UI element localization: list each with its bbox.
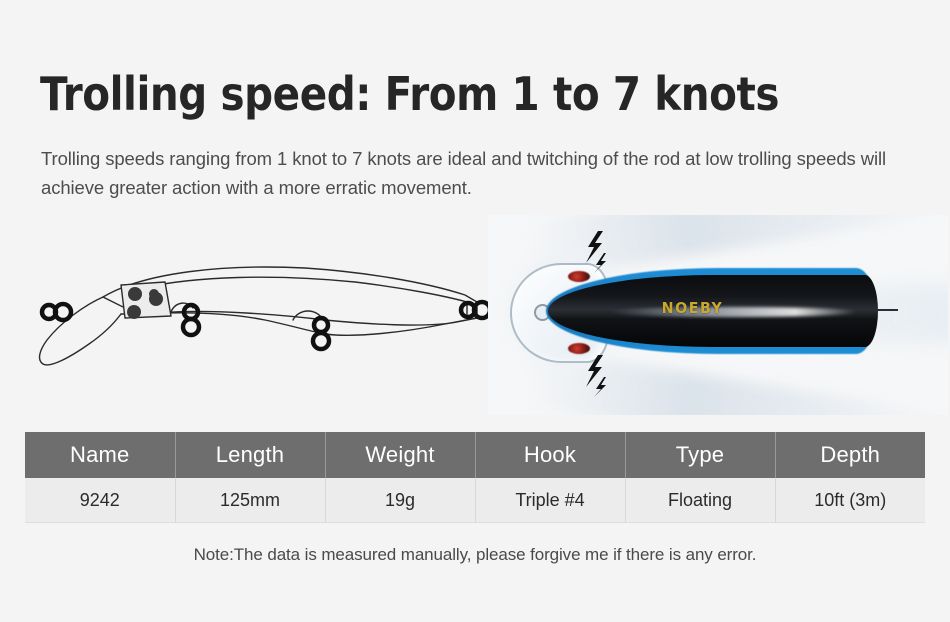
lure-schematic-diagram <box>25 250 495 380</box>
column-header-length: Length <box>175 432 325 478</box>
brand-logo-text: NOEBY <box>662 299 724 317</box>
media-band: NOEBY <box>0 215 950 415</box>
column-header-type: Type <box>625 432 775 478</box>
photo-background: NOEBY <box>488 215 948 415</box>
table-header-row: Name Length Weight Hook Type Depth <box>25 432 925 478</box>
table-row: 9242 125mm 19g Triple #4 Floating 10ft (… <box>25 478 925 523</box>
lightning-bolt-icon <box>584 231 606 273</box>
cell-length: 125mm <box>175 478 325 523</box>
cell-weight: 19g <box>325 478 475 523</box>
lightning-bolt-icon <box>584 355 606 397</box>
lure-photo: NOEBY <box>488 215 948 415</box>
table-note: Note:The data is measured manually, plea… <box>0 545 950 565</box>
product-detail-banner: Trolling speed: From 1 to 7 knots Trolli… <box>0 0 950 622</box>
cell-hook: Triple #4 <box>475 478 625 523</box>
column-header-hook: Hook <box>475 432 625 478</box>
page-title: Trolling speed: From 1 to 7 knots <box>40 66 779 122</box>
lure-body-highlight <box>608 307 858 317</box>
cell-depth: 10ft (3m) <box>775 478 925 523</box>
column-header-depth: Depth <box>775 432 925 478</box>
specs-table: Name Length Weight Hook Type Depth 9242 … <box>25 432 925 523</box>
lure-eye-bottom <box>568 343 590 354</box>
cell-name: 9242 <box>25 478 175 523</box>
column-header-name: Name <box>25 432 175 478</box>
cell-type: Floating <box>625 478 775 523</box>
column-header-weight: Weight <box>325 432 475 478</box>
tail-wire <box>874 309 898 311</box>
description-text: Trolling speeds ranging from 1 knot to 7… <box>41 144 891 202</box>
